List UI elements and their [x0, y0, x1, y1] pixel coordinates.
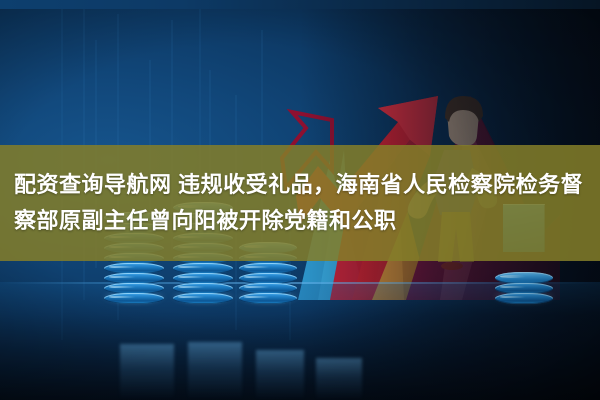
- headline-overlay-band: 配资查询导航网 违规收受礼品，海南省人民检察院检务督察部原副主任曾向阳被开除党籍…: [0, 145, 600, 261]
- headline-text: 配资查询导航网 违规收受礼品，海南省人民检察院检务督察部原副主任曾向阳被开除党籍…: [14, 167, 586, 239]
- banner-image: 配资查询导航网 违规收受礼品，海南省人民检察院检务督察部原副主任曾向阳被开除党籍…: [0, 0, 600, 400]
- top-edge-strip: [0, 0, 600, 9]
